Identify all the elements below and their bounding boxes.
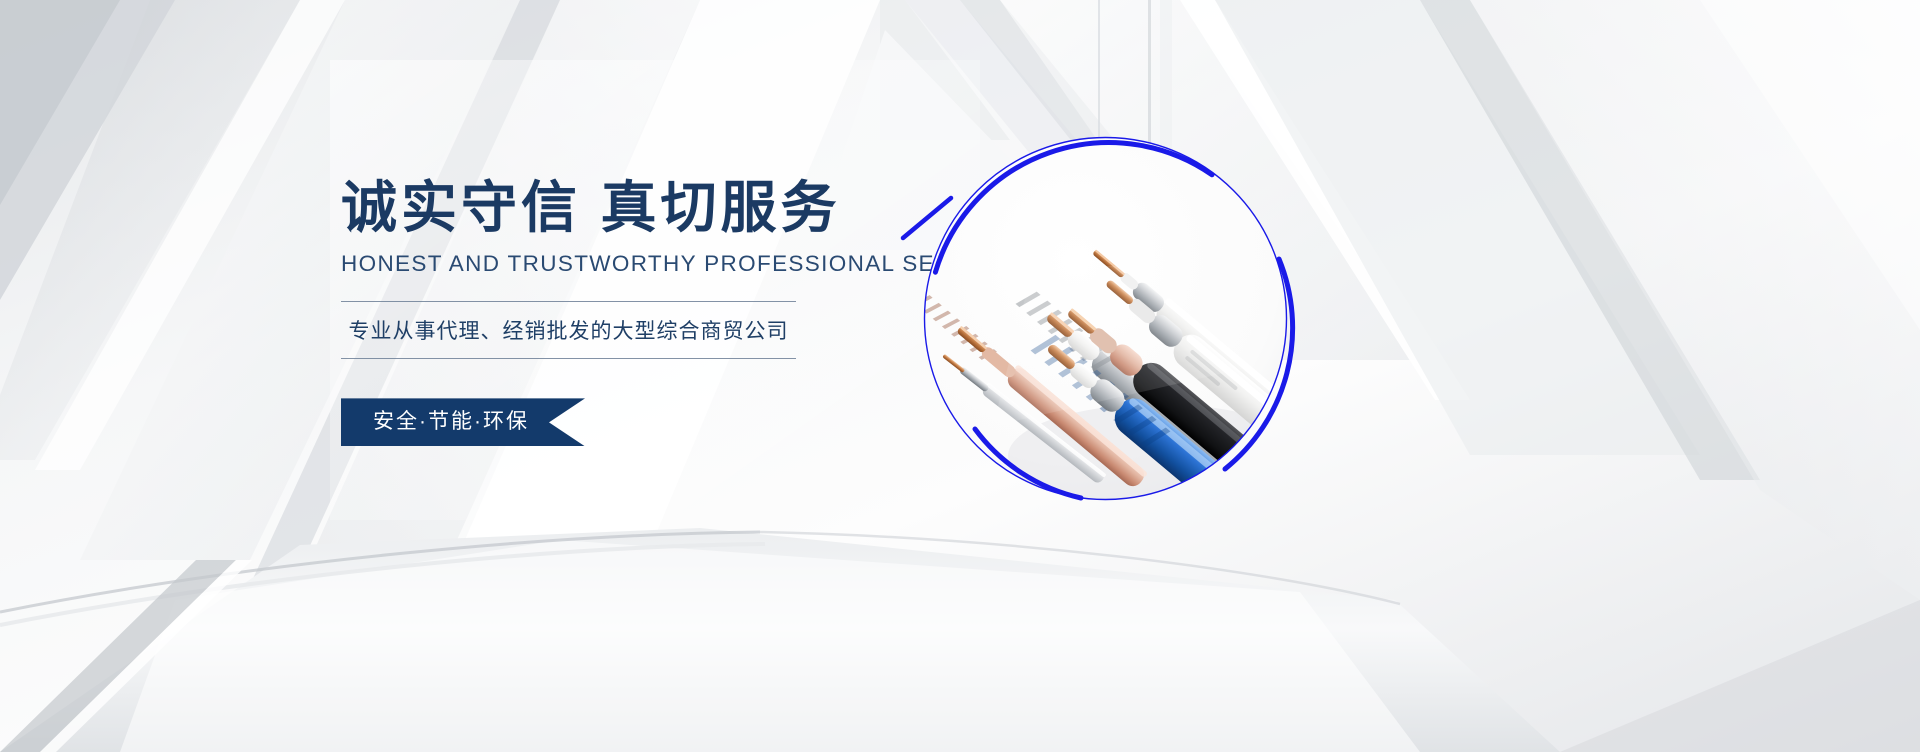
product-illustration	[913, 126, 1298, 511]
tagline-text: 专业从事代理、经销批发的大型综合商贸公司	[341, 302, 796, 358]
page-title: 诚实守信 真切服务	[341, 178, 961, 237]
divider-top	[341, 301, 796, 302]
hero-banner: 诚实守信 真切服务 HONEST AND TRUSTWORTHY PROFESS…	[0, 0, 1920, 752]
product-circle	[913, 126, 1298, 511]
divider-bottom	[341, 358, 796, 359]
hero-text-block: 诚实守信 真切服务 HONEST AND TRUSTWORTHY PROFESS…	[341, 178, 961, 446]
badge-container: 安全·节能·环保	[341, 398, 961, 446]
status-badge[interactable]: 安全·节能·环保	[341, 398, 585, 446]
page-subtitle: HONEST AND TRUSTWORTHY PROFESSIONAL SERV…	[341, 251, 961, 277]
